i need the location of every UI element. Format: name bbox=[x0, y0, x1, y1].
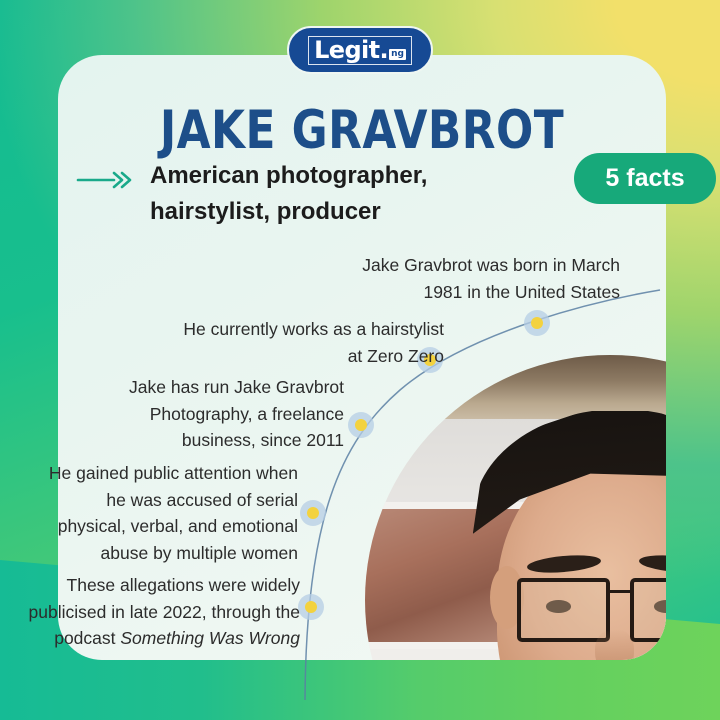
facts-list: Jake Gravbrot was born in March 1981 in … bbox=[0, 0, 720, 720]
fact-item-5: These allegations were widely publicised… bbox=[24, 572, 300, 652]
status-badge-label: 5 facts bbox=[605, 164, 684, 193]
logo-dot: . bbox=[380, 38, 389, 62]
fact-item-2: He currently works as a hairstylist at Z… bbox=[180, 316, 444, 369]
logo-tld: ng bbox=[389, 49, 406, 60]
logo-wordmark: Legit bbox=[314, 38, 379, 62]
fact-item-3: Jake has run Jake Gravbrot Photography, … bbox=[96, 374, 344, 454]
status-badge: 5 facts bbox=[574, 153, 716, 204]
logo-inner: Legit . ng bbox=[308, 36, 412, 65]
logo[interactable]: Legit . ng bbox=[287, 26, 433, 74]
fact-item-4: He gained public attention when he was a… bbox=[34, 460, 298, 566]
fact-item-5-italic: Something Was Wrong bbox=[120, 628, 300, 648]
fact-item-1: Jake Gravbrot was born in March 1981 in … bbox=[336, 252, 620, 305]
